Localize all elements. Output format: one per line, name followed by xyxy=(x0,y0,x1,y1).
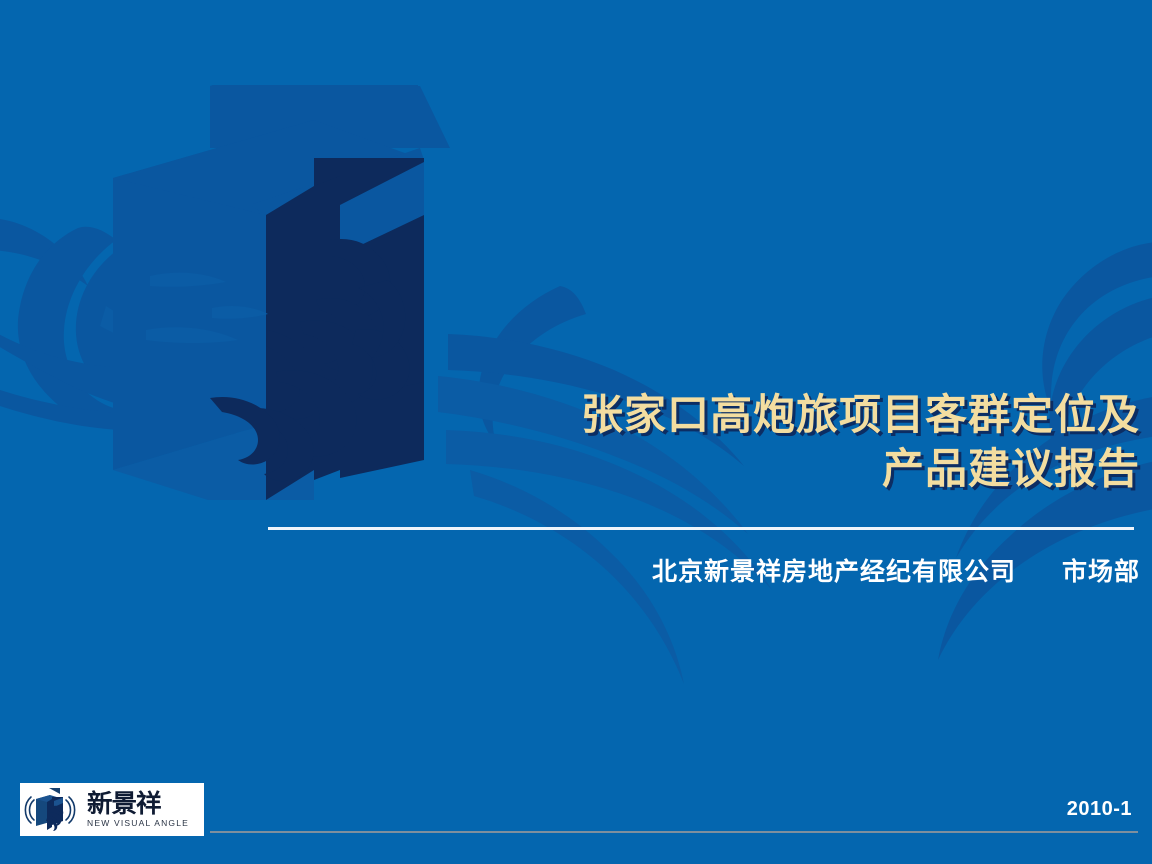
title-line-1: 张家口高炮旅项目客群定位及 xyxy=(250,388,1140,442)
cube-top-face xyxy=(113,120,424,215)
subtitle: 北京新景祥房地产经纪有限公司市场部 xyxy=(250,552,1140,588)
subtitle-company: 北京新景祥房地产经纪有限公司 xyxy=(652,558,1016,586)
logo-english-tagline: NEW VISUAL ANGLE xyxy=(87,818,200,828)
title-divider-rule xyxy=(268,527,1134,530)
subtitle-department: 市场部 xyxy=(1062,558,1140,586)
page-title: 张家口高炮旅项目客群定位及 产品建议报告 xyxy=(250,388,1140,496)
title-slide: 张家口高炮旅项目客群定位及 产品建议报告 北京新景祥房地产经纪有限公司市场部 2… xyxy=(0,0,1152,864)
highlight-dashes xyxy=(146,273,268,343)
title-line-2: 产品建议报告 xyxy=(250,442,1140,496)
company-logo: 新景祥 NEW VISUAL ANGLE xyxy=(20,783,204,836)
logo-chinese-name: 新景祥 xyxy=(87,791,202,816)
triangle-pennant-watermark xyxy=(210,85,418,146)
wave-swoosh-watermark-left xyxy=(0,218,270,442)
logo-wordmark: 新景祥 NEW VISUAL ANGLE xyxy=(86,791,204,828)
date-stamp: 2010-1 xyxy=(1067,798,1132,821)
footer-divider-rule xyxy=(210,831,1138,833)
isometric-cube-logo-icon xyxy=(22,786,86,834)
